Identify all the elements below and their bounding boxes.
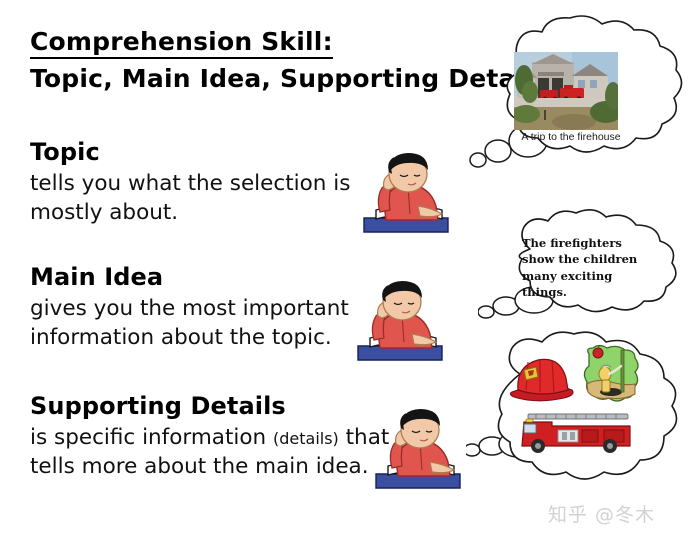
- section-main-idea-body-line-2: information about the topic.: [30, 325, 332, 350]
- section-topic-body: tells you what the selection is mostly a…: [30, 170, 390, 227]
- photo-caption: A trip to the firehouse: [508, 132, 634, 144]
- boy-reading-icon: [370, 404, 466, 490]
- thought-text-line-1: The firefighters: [522, 235, 662, 251]
- section-main-idea-heading: Main Idea: [30, 263, 390, 291]
- boy-reading-icon: [352, 276, 448, 362]
- section-topic-heading: Topic: [30, 138, 390, 166]
- firehouse-photo: [514, 52, 618, 130]
- thought-text-line-3: many exciting: [522, 268, 662, 284]
- thought-text-line-2: show the children: [522, 251, 662, 267]
- fire-helmet-icon: [506, 350, 578, 406]
- thought-bubble-text: The firefighters show the children many …: [522, 235, 662, 300]
- section-topic-body-line-1: tells you what the selection is: [30, 171, 350, 196]
- page-title-line-1: Comprehension Skill:: [30, 28, 333, 59]
- thought-bubble-supporting-details: [466, 328, 692, 508]
- section-supporting-body-line-2: tells more about the main idea.: [30, 454, 369, 479]
- section-topic: Topic tells you what the selection is mo…: [30, 138, 390, 227]
- firefighter-scene-icon: [581, 344, 643, 406]
- thought-bubble-topic: A trip to the firehouse: [466, 8, 692, 178]
- page-title-line-2: Topic, Main Idea, Supporting Details: [30, 65, 500, 93]
- section-main-idea-body-line-1: gives you the most important: [30, 296, 349, 321]
- thought-bubble-main-idea: The firefighters show the children many …: [478, 205, 692, 340]
- section-topic-body-line-2: mostly about.: [30, 200, 178, 225]
- section-supporting-details: Supporting Details is specific informati…: [30, 392, 390, 481]
- watermark: 知乎 @冬木: [548, 500, 655, 527]
- boy-reading-icon: [358, 148, 454, 234]
- section-main-idea-body: gives you the most important information…: [30, 295, 390, 352]
- section-supporting-body-pre: is specific information: [30, 425, 273, 450]
- slide-canvas: Comprehension Skill: Topic, Main Idea, S…: [0, 0, 692, 535]
- thought-text-line-4: things.: [522, 284, 662, 300]
- section-supporting-details-heading: Supporting Details: [30, 392, 390, 420]
- section-supporting-body-parenthetical: (details): [273, 429, 339, 448]
- section-main-idea: Main Idea gives you the most important i…: [30, 263, 390, 352]
- slide-title-block: Comprehension Skill: Topic, Main Idea, S…: [30, 28, 500, 93]
- section-supporting-details-body: is specific information (details) that t…: [30, 424, 390, 481]
- fire-engine-icon: [518, 408, 636, 458]
